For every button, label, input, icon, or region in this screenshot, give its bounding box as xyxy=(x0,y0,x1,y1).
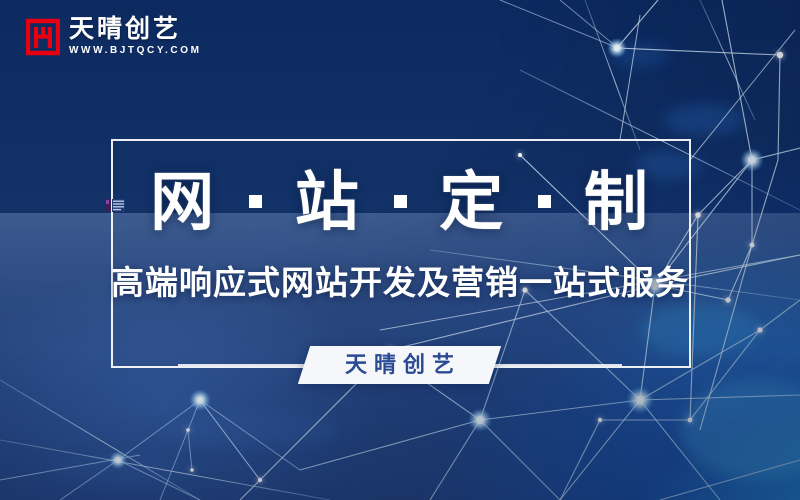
headline-char-3: 定 xyxy=(439,166,505,238)
headline-char-2: 站 xyxy=(295,166,361,238)
brand-logo-text: 天晴创艺 WWW.BJTQCY.COM xyxy=(69,16,202,57)
headline-separator-icon xyxy=(538,195,551,208)
badge-rule-left xyxy=(178,364,314,366)
brand-logo[interactable]: 天晴创艺 WWW.BJTQCY.COM xyxy=(26,16,202,57)
page-subtitle: 高端响应式网站开发及营销一站式服务 xyxy=(0,262,800,304)
brand-website-url: WWW.BJTQCY.COM xyxy=(69,44,202,57)
brand-badge-row: 天晴创艺 xyxy=(0,346,800,384)
brand-name-cn: 天晴创艺 xyxy=(69,16,202,42)
brand-badge: 天晴创艺 xyxy=(298,346,501,384)
tianqing-logo-mark-icon xyxy=(26,18,60,56)
brand-badge-label: 天晴创艺 xyxy=(338,351,461,379)
page-title: 网 站 定 制 xyxy=(0,165,800,239)
headline-separator-icon xyxy=(249,195,262,208)
headline-char-4: 制 xyxy=(584,166,650,238)
headline-char-1: 网 xyxy=(150,166,216,238)
headline-separator-icon xyxy=(394,195,407,208)
background-vignette xyxy=(0,0,800,500)
website-customization-banner: 天晴创艺 WWW.BJTQCY.COM 网 站 定 制 高端响应式网站开发及营销… xyxy=(0,0,800,500)
badge-rule-right xyxy=(486,364,622,366)
